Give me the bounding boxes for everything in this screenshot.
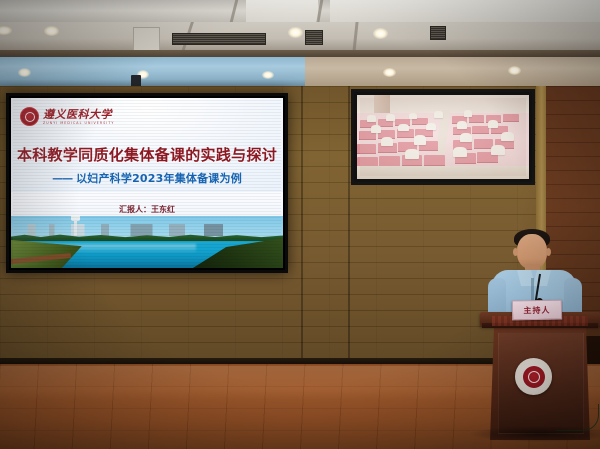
soffit-right-warm	[305, 57, 600, 89]
ceiling-downlight	[44, 26, 59, 36]
main-led-screen[interactable]: 遵义医科大学 ZUNYI MEDICAL UNIVERSITY 本科教学同质化集…	[6, 93, 288, 273]
feed-stage-edge	[357, 166, 529, 179]
university-emblem-icon	[515, 358, 552, 395]
moderator-name-card-text: 主持人	[523, 306, 550, 314]
photo-tower	[74, 218, 77, 236]
feed-attendee	[398, 124, 408, 132]
feed-attendee	[501, 132, 513, 141]
university-logo: 遵义医科大学 ZUNYI MEDICAL UNIVERSITY	[20, 107, 114, 126]
speaker-ear	[513, 248, 518, 256]
slide-subtitle: ——以妇产科学2023年集体备课为例	[11, 170, 283, 186]
feed-attendee	[386, 114, 395, 121]
feed-attendee	[488, 120, 498, 128]
feed-attendee	[491, 145, 505, 155]
lecture-hall-photo: 遵义医科大学 ZUNYI MEDICAL UNIVERSITY 本科教学同质化集…	[0, 0, 600, 449]
wall-panel-seam	[301, 86, 303, 364]
university-seal-icon	[20, 107, 39, 126]
wall-panel-seam	[348, 86, 350, 364]
presentation-slide: 遵义医科大学 ZUNYI MEDICAL UNIVERSITY 本科教学同质化集…	[11, 98, 283, 268]
ceiling-air-vent	[430, 26, 446, 40]
ceiling-lower-band	[0, 22, 600, 52]
slide-subtitle-dash: ——	[52, 172, 72, 185]
ceiling-access-panel	[133, 27, 160, 51]
slide-subtitle-text: 以妇产科学2023年集体备课为例	[76, 172, 242, 185]
soffit-downlight	[262, 71, 274, 79]
auditorium-camera-feed	[357, 95, 529, 179]
feed-attendee	[460, 133, 472, 142]
feed-seat	[357, 144, 376, 154]
ceiling-air-vent	[305, 30, 323, 45]
feed-attendee	[414, 135, 426, 144]
feed-attendee	[381, 137, 393, 146]
feed-attendee	[464, 110, 473, 117]
feed-attendee	[371, 125, 381, 133]
feed-seat	[474, 139, 493, 149]
feed-attendee	[453, 147, 467, 157]
moderator-name-card: 主持人	[512, 300, 562, 321]
feed-attendee	[434, 111, 443, 118]
side-projection-screen[interactable]	[351, 89, 535, 185]
feed-attendee	[426, 123, 436, 131]
slide-campus-photo	[11, 216, 283, 268]
feed-seat	[424, 155, 445, 166]
photo-city-skyline	[11, 224, 283, 236]
ceiling-air-vent	[172, 33, 266, 45]
ceiling-skylight-panel	[330, 0, 600, 22]
university-name-en: ZUNYI MEDICAL UNIVERSITY	[43, 121, 114, 125]
feed-attendee	[367, 115, 376, 122]
feed-seat	[472, 126, 489, 134]
slide-presenter-name: 汇报人：王东红	[11, 204, 283, 216]
feed-seat	[503, 114, 518, 122]
ceiling-downlight	[373, 28, 388, 39]
podium-floor-shadow	[470, 426, 600, 442]
slide-title: 本科教学同质化集体备课的实践与探讨	[11, 144, 283, 165]
feed-attendee	[405, 149, 419, 159]
soffit-downlight	[508, 66, 521, 75]
soffit-downlight	[18, 68, 31, 77]
ceiling-skylight-panel	[246, 0, 318, 22]
ceiling-downlight	[288, 27, 303, 38]
university-name-zh: 遵义医科大学	[43, 109, 114, 120]
feed-attendee	[409, 113, 418, 120]
soffit-downlight	[383, 68, 396, 77]
speaker-ear	[546, 248, 551, 256]
feed-attendee	[457, 121, 467, 129]
